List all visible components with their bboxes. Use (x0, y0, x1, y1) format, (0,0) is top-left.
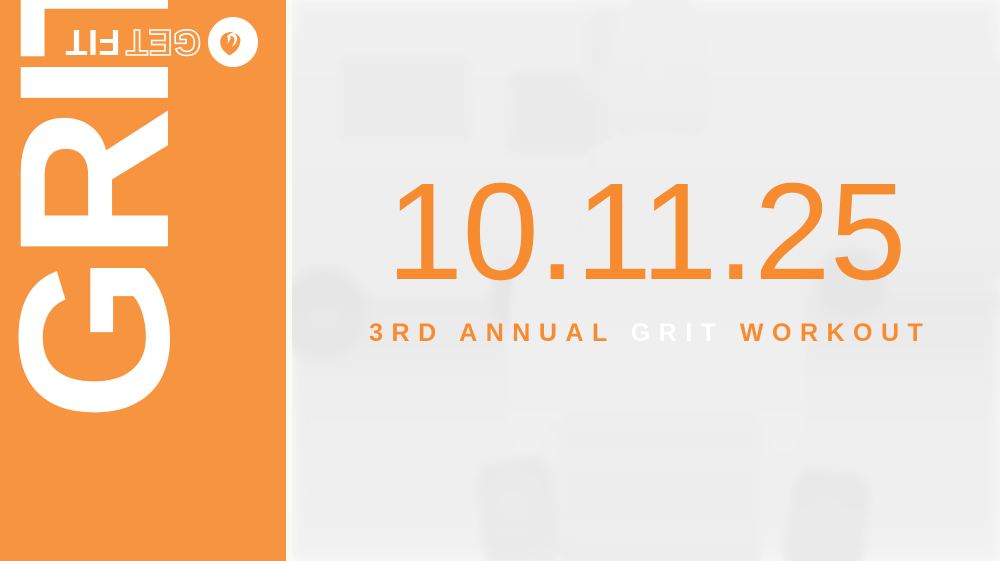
event-poster: GET FIT GRIT (0, 0, 1000, 561)
left-brand-panel: GET FIT GRIT (0, 0, 286, 561)
grit-wordmark-text: GRIT (12, 0, 179, 421)
event-subtitle-part-2: GRIT (631, 319, 725, 347)
event-date: 10.11.25 (387, 165, 906, 300)
event-subtitle-part-1: 3RD ANNUAL (369, 319, 631, 347)
flame-logo-icon (208, 17, 258, 67)
event-subtitle: 3RD ANNUAL GRIT WORKOUT (361, 319, 932, 348)
event-subtitle-part-3: WORKOUT (724, 319, 931, 347)
grit-vertical-wordmark: GRIT (0, 70, 286, 285)
right-photo-panel: 10.11.25 3RD ANNUAL GRIT WORKOUT (292, 0, 1000, 561)
event-text-block: 10.11.25 3RD ANNUAL GRIT WORKOUT (292, 0, 1000, 561)
